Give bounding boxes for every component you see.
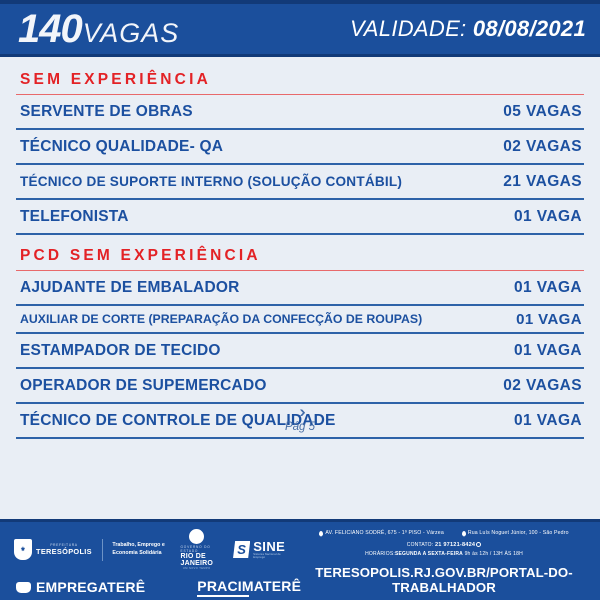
address-text: Rua Luís Noguet Júnior, 100 - São Pedro <box>468 530 569 536</box>
validity-label: VALIDADE: <box>350 16 466 41</box>
footer-contact-info: AV. FELICIANO SODRÉ, 675 - 1º PISO - Vár… <box>288 522 600 600</box>
footer-bar: ⚜ PREFEITURA TERESÓPOLIS Trabalho, Empre… <box>0 519 600 600</box>
table-row[interactable]: TÉCNICO DE SUPORTE INTERNO (SOLUÇÃO CONT… <box>16 165 584 200</box>
governo-small-label: GOVERNO DO ESTADO <box>181 545 214 553</box>
header-banner: 140 VAGAS VALIDADE: 08/08/2021 <box>0 0 600 57</box>
pracmatere-underline <box>197 595 249 597</box>
contact-line: CONTATO: 21 97121-8424 <box>288 536 600 548</box>
validity-group: VALIDADE: 08/08/2021 <box>350 16 586 42</box>
table-row[interactable]: ESTAMPADOR DE TECIDO 01 VAGA <box>16 334 584 369</box>
job-title: TELEFONISTA <box>20 208 129 226</box>
vacancy-total-label: VAGAS <box>83 18 180 49</box>
pracmatere-logo: PRACIMATERÊ <box>197 578 301 596</box>
table-row[interactable]: TELEFONISTA 01 VAGA <box>16 200 584 235</box>
job-title: OPERADOR DE SUPEMERCADO <box>20 377 267 395</box>
address-item-1: AV. FELICIANO SODRÉ, 675 - 1º PISO - Vár… <box>319 530 443 536</box>
hours-line: HORÁRIOS:SEGUNDA A SEXTA-FEIRA 9h às 12h… <box>288 548 600 557</box>
job-vacancy-count: 01 VAGA <box>514 342 582 360</box>
address-line: AV. FELICIANO SODRÉ, 675 - 1º PISO - Vár… <box>288 522 600 536</box>
table-row[interactable]: AJUDANTE DE EMBALADOR 01 VAGA <box>16 271 584 306</box>
sine-mark-icon: S <box>233 541 250 558</box>
footer-logos: ⚜ PREFEITURA TERESÓPOLIS Trabalho, Empre… <box>0 522 288 600</box>
pracmatere-name: PRACIMATERÊ <box>197 578 301 594</box>
footer-logo-row-top: ⚜ PREFEITURA TERESÓPOLIS Trabalho, Empre… <box>0 522 288 570</box>
header-title-group: 140 VAGAS <box>18 9 179 49</box>
contact-label: CONTATO: <box>407 542 434 548</box>
website-url[interactable]: TERESOPOLIS.RJ.GOV.BR/PORTAL-DO-TRABALHA… <box>288 557 600 595</box>
job-title: SERVENTE DE OBRAS <box>20 103 193 121</box>
page-number-label: Pág 5 <box>285 421 315 433</box>
job-vacancy-count: 01 VAGA <box>514 279 582 297</box>
prefeitura-logo: ⚜ PREFEITURA TERESÓPOLIS <box>14 539 92 560</box>
job-vacancy-count: 21 VAGAS <box>503 173 582 191</box>
department-label: Trabalho, Emprego e Economia Solidária <box>112 542 166 556</box>
governo-rj-logo: GOVERNO DO ESTADO RIO DE JANEIRO UM NOVO… <box>181 529 214 570</box>
job-vacancy-count: 02 VAGAS <box>503 377 582 395</box>
sine-logo: S SINE Sistema Nacional de Emprego <box>233 541 288 559</box>
governo-name: RIO DE JANEIRO <box>181 553 214 567</box>
validity-date: 08/08/2021 <box>473 16 586 41</box>
address-text: AV. FELICIANO SODRÉ, 675 - 1º PISO - Vár… <box>325 530 443 536</box>
table-row[interactable]: AUXILIAR DE CORTE (PREPARAÇÃO DA CONFECÇ… <box>16 306 584 334</box>
job-vacancy-count: 01 VAGA <box>516 311 582 328</box>
table-row[interactable]: SERVENTE DE OBRAS 05 VAGAS <box>16 95 584 130</box>
section-header-pcd-sem-experiencia: PCD SEM EXPERIÊNCIA <box>16 235 584 271</box>
empregatere-name: EMPREGATERÊ <box>36 579 145 595</box>
hours-times: 9h às 12h / 13H ÀS 18H <box>465 551 523 557</box>
location-pin-icon <box>319 531 323 536</box>
prefeitura-name: TERESÓPOLIS <box>36 547 92 556</box>
location-pin-icon <box>462 531 466 536</box>
table-row[interactable]: OPERADOR DE SUPEMERCADO 02 VAGAS <box>16 369 584 404</box>
whatsapp-icon <box>476 542 481 547</box>
hours-label: HORÁRIOS: <box>365 551 395 557</box>
job-title: TÉCNICO DE SUPORTE INTERNO (SOLUÇÃO CONT… <box>20 174 402 189</box>
vacancy-total-count: 140 <box>18 9 82 49</box>
job-vacancy-count: 05 VAGAS <box>503 103 582 121</box>
governo-tagline: UM NOVO TEMPO <box>183 567 211 570</box>
job-listing-content: SEM EXPERIÊNCIA SERVENTE DE OBRAS 05 VAG… <box>0 57 600 519</box>
coat-of-arms-icon: ⚜ <box>14 539 32 560</box>
empregatere-logo: EMPREGATERÊ <box>16 579 145 595</box>
job-title: AUXILIAR DE CORTE (PREPARAÇÃO DA CONFECÇ… <box>20 312 422 326</box>
section-header-sem-experiencia: SEM EXPERIÊNCIA <box>16 57 584 95</box>
rj-seal-icon <box>189 529 204 544</box>
sine-name: SINE <box>253 541 288 553</box>
handshake-icon <box>16 582 31 593</box>
logo-divider <box>102 539 103 561</box>
job-title: TÉCNICO QUALIDADE- QA <box>20 138 223 156</box>
table-row[interactable]: TÉCNICO QUALIDADE- QA 02 VAGAS <box>16 130 584 165</box>
footer-logo-row-bottom: EMPREGATERÊ PRACIMATERÊ <box>0 570 288 596</box>
chevron-right-icon: ›› <box>299 405 300 419</box>
sine-subtitle: Sistema Nacional de Emprego <box>253 553 288 559</box>
hours-days: SEGUNDA A SEXTA-FEIRA <box>395 551 463 557</box>
job-title: AJUDANTE DE EMBALADOR <box>20 279 239 297</box>
job-vacancy-count: 01 VAGA <box>514 208 582 226</box>
contact-phone: 21 97121-8424 <box>435 542 475 548</box>
address-item-2: Rua Luís Noguet Júnior, 100 - São Pedro <box>462 530 569 536</box>
job-vacancy-count: 02 VAGAS <box>503 138 582 156</box>
page-marker: ›› Pág 5 <box>0 405 600 433</box>
job-title: ESTAMPADOR DE TECIDO <box>20 342 221 360</box>
